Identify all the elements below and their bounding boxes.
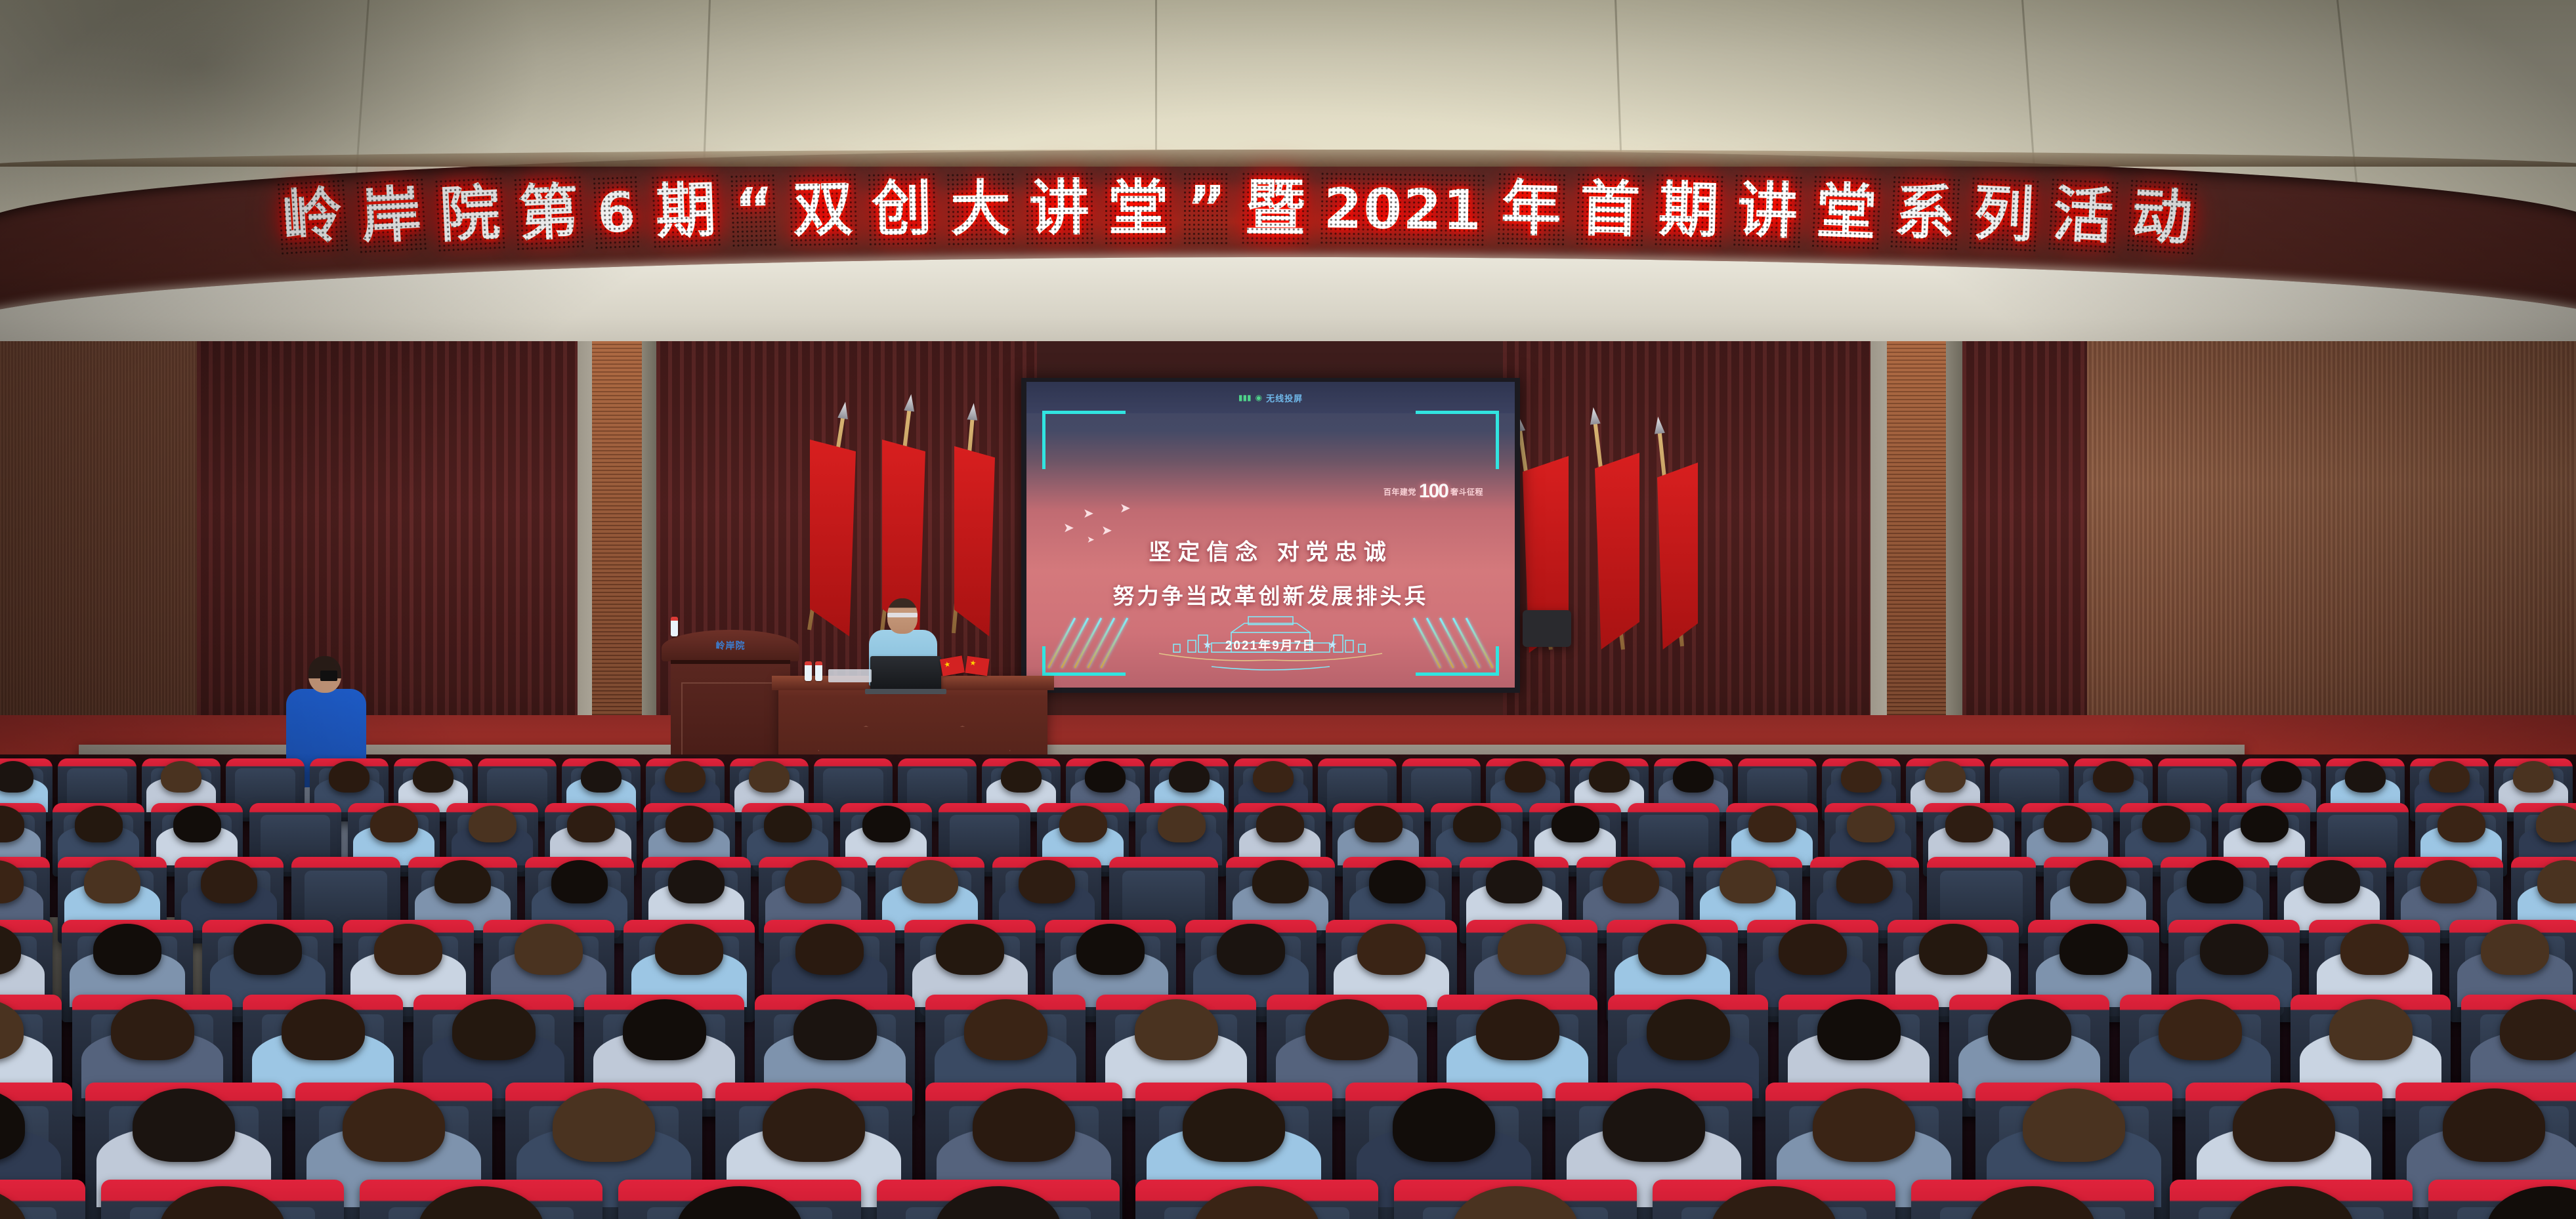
audience-person-head: [1059, 806, 1107, 842]
wifi-icon: ◉: [1256, 393, 1262, 402]
red-flag: [810, 440, 856, 636]
audience-person-head: [764, 806, 812, 842]
red-flag: [954, 446, 995, 636]
audience-person-head: [936, 924, 1004, 975]
led-banner-char: 岸: [359, 182, 423, 251]
audience-person-head: [2481, 924, 2549, 975]
led-banner-char: 创: [871, 176, 933, 243]
slide-date-text: 2021年9月7日: [1225, 636, 1316, 653]
audience-person-head: [1836, 860, 1893, 903]
audience-person-head: [2241, 806, 2289, 842]
led-banner-char: 年: [1500, 176, 1562, 243]
audience-person-head: [1393, 1088, 1495, 1162]
led-banner: 岭岸院第6期“双创大讲堂”暨2021年首期讲堂系列活动: [282, 176, 2192, 268]
audience-person-head: [469, 806, 517, 842]
led-banner-char: 期: [1658, 177, 1720, 245]
audience-person-head: [1369, 860, 1425, 903]
audience-person-head: [1505, 761, 1546, 793]
laptop-base: [865, 689, 946, 694]
audience-person-head: [2261, 761, 2302, 793]
audience-person-head: [1779, 924, 1847, 975]
audience-person-head: [1357, 924, 1425, 975]
water-bottle: [805, 661, 812, 681]
led-banner-char: 大: [950, 176, 1011, 242]
audience-person-head: [2345, 761, 2386, 793]
audience-person-head: [1720, 860, 1776, 903]
audience-person-head: [668, 860, 725, 903]
audience-person-head: [1001, 761, 1042, 793]
audience-person-head: [1183, 1088, 1285, 1162]
audience-person-head: [1076, 924, 1145, 975]
projector-status-bar: ▮▮▮ ◉ 无线投屏: [1026, 382, 1515, 413]
audience-person-head: [1305, 999, 1389, 1060]
audience-person-head: [1252, 860, 1309, 903]
audience-person-head: [1919, 924, 1987, 975]
audience-person-head: [2044, 806, 2092, 842]
star-icon: ★: [1202, 638, 1213, 651]
audience-person-head: [434, 860, 491, 903]
audience-person-head: [329, 761, 370, 793]
led-banner-char: 堂: [1815, 178, 1878, 246]
lectern-top: 岭岸院: [662, 630, 799, 661]
audience-person-head: [2438, 806, 2485, 842]
audience-person-head: [2070, 860, 2126, 903]
audience-person-head: [2142, 806, 2190, 842]
audience-person-head: [84, 860, 140, 903]
led-banner-char: 岭: [280, 182, 345, 251]
audience-person-head: [793, 999, 877, 1060]
audience-person-head: [1019, 860, 1075, 903]
audience-person-head: [2340, 924, 2409, 975]
led-banner-char: 第: [517, 179, 580, 247]
audience-person-head: [1847, 806, 1895, 842]
audience-person-head: [1638, 924, 1706, 975]
audience-person-head: [1498, 924, 1566, 975]
audience-person-head: [1945, 806, 1993, 842]
audience-person-head: [1603, 860, 1659, 903]
led-banner-text: 岭岸院第6期“双创大讲堂”暨2021年首期讲堂系列活动: [282, 176, 2192, 268]
red-flag: [1595, 453, 1639, 650]
led-banner-char: “: [734, 177, 775, 244]
audience-person-head: [763, 1088, 865, 1162]
audience-person-head: [374, 924, 442, 975]
audience-person-head: [1355, 806, 1403, 842]
led-banner-char: 动: [2130, 182, 2194, 251]
audience-person-head: [1673, 761, 1714, 793]
audience-person-head: [343, 1088, 445, 1162]
audience-person-head: [551, 860, 608, 903]
audience-person-head: [2500, 999, 2576, 1060]
led-banner-char: 堂: [1108, 176, 1168, 241]
audience-person-head: [749, 761, 790, 793]
audience-person-head: [2329, 999, 2413, 1060]
audience-person-head: [785, 860, 841, 903]
audience-person-head: [973, 1088, 1075, 1162]
led-banner-char: ”: [1187, 176, 1227, 241]
audience-person-head: [2200, 924, 2268, 975]
audience-person-head: [795, 924, 864, 975]
audience-person-head: [413, 761, 454, 793]
audience-person-head: [1476, 999, 1559, 1060]
led-banner-char: 活: [2051, 182, 2115, 251]
audience-person-head: [1552, 806, 1599, 842]
led-banner-char: 2021: [1323, 175, 1483, 243]
audience-person-head: [623, 999, 706, 1060]
audience-person-head: [1988, 999, 2071, 1060]
led-banner-char: 6: [597, 179, 639, 246]
audience-person-head: [2023, 1088, 2125, 1162]
audience-person-head: [201, 860, 257, 903]
status-bar-label: 无线投屏: [1266, 392, 1303, 404]
audience-person-head: [1169, 761, 1210, 793]
audience-person-head: [75, 806, 123, 842]
audience-person-head: [370, 806, 418, 842]
led-banner-char: 系: [1893, 179, 1956, 247]
audience-person-head: [1841, 761, 1882, 793]
water-bottle: [671, 617, 678, 636]
audience-person-head: [2536, 806, 2576, 842]
audience-person-head: [581, 761, 622, 793]
led-banner-char: 双: [792, 176, 854, 243]
star-icon: ★: [1328, 638, 1338, 651]
led-banner-char: 首: [1579, 176, 1641, 243]
audience-person-head: [1135, 999, 1218, 1060]
led-banner-char: 列: [1972, 180, 2036, 249]
cpc-centennial-logo: 百年建党 100 奢斗征程: [1383, 480, 1483, 503]
audience-person-head: [1253, 761, 1294, 793]
audience-person-head: [2420, 860, 2477, 903]
audience-person-head: [1925, 761, 1966, 793]
audience-person-head: [1453, 806, 1501, 842]
audience-person-head: [1217, 924, 1285, 975]
audience-person-head: [2233, 1088, 2335, 1162]
logo-left-text: 百年建党: [1383, 486, 1416, 497]
audience-person-head: [2187, 860, 2243, 903]
audience-person-head: [567, 806, 615, 842]
logo-number: 100: [1419, 480, 1448, 503]
audience-person-head: [655, 924, 723, 975]
led-banner-char: 院: [438, 180, 502, 249]
chair-backdrop: [1523, 610, 1571, 647]
audience-person-head: [2429, 761, 2470, 793]
led-banner-char: 期: [654, 178, 717, 245]
fascia-top-edge: [0, 150, 2576, 167]
signal-icon: ▮▮▮: [1238, 393, 1252, 402]
logo-right-text: 奢斗征程: [1450, 486, 1483, 497]
led-banner-char: 讲: [1029, 176, 1090, 242]
audience-person-head: [2513, 761, 2554, 793]
audience-person-head: [161, 761, 201, 793]
projection-screen: ▮▮▮ ◉ 无线投屏 ➤ ➤ ➤ ➤ ➤ 百年建党 100 奢斗征程 坚定信念 …: [1021, 378, 1520, 693]
audience-person-head: [173, 806, 221, 842]
audience-person-head: [1748, 806, 1796, 842]
audience-person-head: [964, 999, 1047, 1060]
audience-person-head: [1603, 1088, 1705, 1162]
slide-date: ★ 2021年9月7日 ★: [1026, 636, 1515, 653]
audience-person-head: [1647, 999, 1730, 1060]
audience-person-head: [665, 761, 706, 793]
audience-person-head: [1589, 761, 1630, 793]
led-banner-char: 讲: [1736, 178, 1798, 245]
audience-person-head: [2059, 924, 2128, 975]
audience-person-head: [2093, 761, 2134, 793]
audience-person-head: [1486, 860, 1542, 903]
national-flag-desk: ★: [965, 656, 989, 676]
audience-person-head: [515, 924, 583, 975]
audience-person-head: [2159, 999, 2242, 1060]
audience-person-head: [1158, 806, 1206, 842]
auditorium-photo: 岭岸院第6期“双创大讲堂”暨2021年首期讲堂系列活动: [0, 0, 2576, 1219]
audience-person-head: [1813, 1088, 1915, 1162]
audience-person-head: [862, 806, 910, 842]
lectern-logo: 岭岸院: [716, 639, 746, 652]
cup-tray: [828, 669, 872, 682]
audience-person-head: [282, 999, 365, 1060]
water-bottle: [815, 661, 822, 681]
projected-slide: ▮▮▮ ◉ 无线投屏 ➤ ➤ ➤ ➤ ➤ 百年建党 100 奢斗征程 坚定信念 …: [1026, 382, 1515, 688]
audience-area: [0, 754, 2576, 1219]
glasses-icon: [887, 613, 918, 617]
slide-title: 坚定信念 对党忠诚: [1026, 534, 1515, 566]
laptop: [870, 656, 941, 690]
audience-person-head: [665, 806, 713, 842]
audience-person-head: [93, 924, 161, 975]
red-flag: [1657, 463, 1698, 650]
audience-person-head: [553, 1088, 655, 1162]
audience-person-head: [902, 860, 958, 903]
audience-person-head: [133, 1088, 235, 1162]
audience-person-head: [1085, 761, 1126, 793]
audience-person-head: [452, 999, 536, 1060]
led-banner-char: 暨: [1244, 176, 1305, 242]
audience-person-head: [1817, 999, 1901, 1060]
audience-person-head: [1256, 806, 1304, 842]
phone-icon: [320, 671, 337, 681]
slide-corner-bracket-tr: [1416, 411, 1499, 469]
audience-person-head: [234, 924, 302, 975]
audience-person-head: [2304, 860, 2360, 903]
audience-person-head: [2443, 1088, 2545, 1162]
audience-person-head: [111, 999, 194, 1060]
slide-corner-bracket-tl: [1042, 411, 1126, 469]
